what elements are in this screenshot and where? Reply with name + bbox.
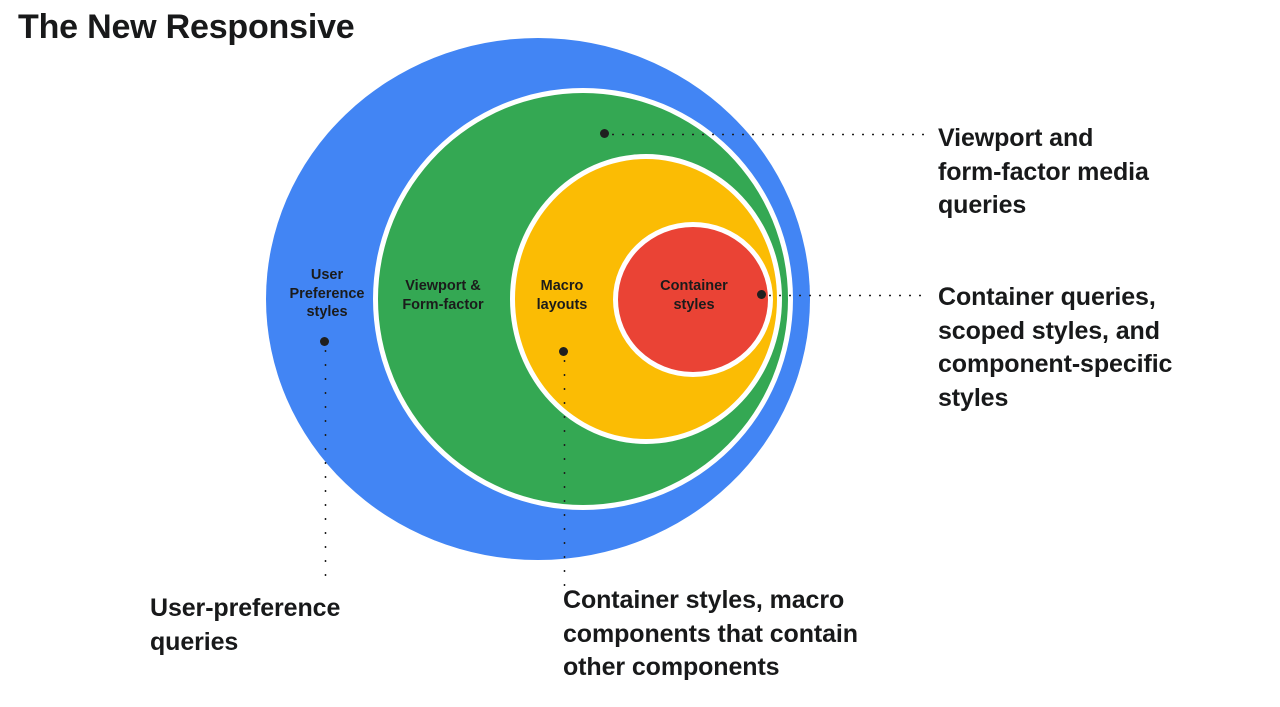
annotation-container-queries: Container queries, scoped styles, and co…: [938, 281, 1268, 415]
leader-line-container: [765, 294, 927, 297]
ring-label-user-preference: User Preference styles: [281, 266, 373, 322]
leader-line-viewport: [608, 133, 926, 136]
ring-label-container-styles: Container styles: [638, 277, 750, 314]
slide-canvas: The New Responsive User Preference style…: [0, 0, 1280, 707]
leader-line-user-preference: [324, 344, 327, 586]
annotation-user-preference-queries: User-preference queries: [150, 592, 480, 659]
annotation-viewport-media-queries: Viewport and form-factor media queries: [938, 122, 1258, 223]
leader-line-macro-layouts: [563, 354, 566, 586]
ring-label-viewport-form-factor: Viewport & Form-factor: [383, 277, 503, 314]
annotation-container-styles-macro: Container styles, macro components that …: [563, 584, 993, 685]
ring-label-macro-layouts: Macro layouts: [518, 277, 606, 314]
